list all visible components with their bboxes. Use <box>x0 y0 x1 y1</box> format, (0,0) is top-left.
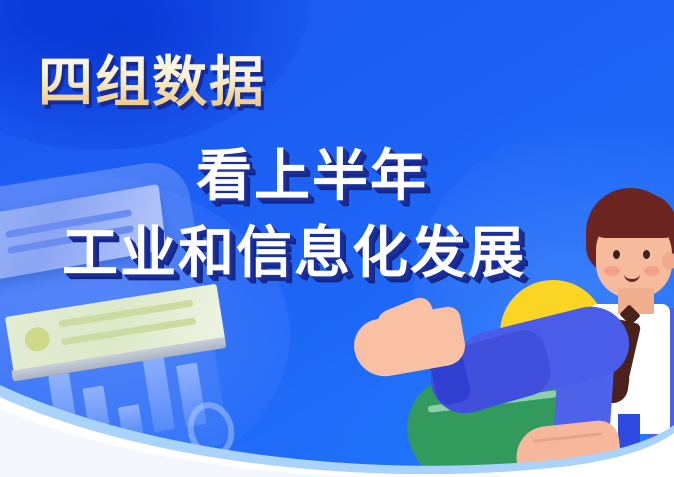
bottom-wave <box>0 347 674 477</box>
eye-left <box>613 250 620 259</box>
cheek-left <box>604 266 620 276</box>
cheek-right <box>644 266 660 276</box>
hair-top <box>590 194 674 238</box>
eye-right <box>643 250 650 259</box>
ear <box>662 252 674 270</box>
poster: 四组数据 看上半年 工业和信息化发展 <box>0 0 674 477</box>
